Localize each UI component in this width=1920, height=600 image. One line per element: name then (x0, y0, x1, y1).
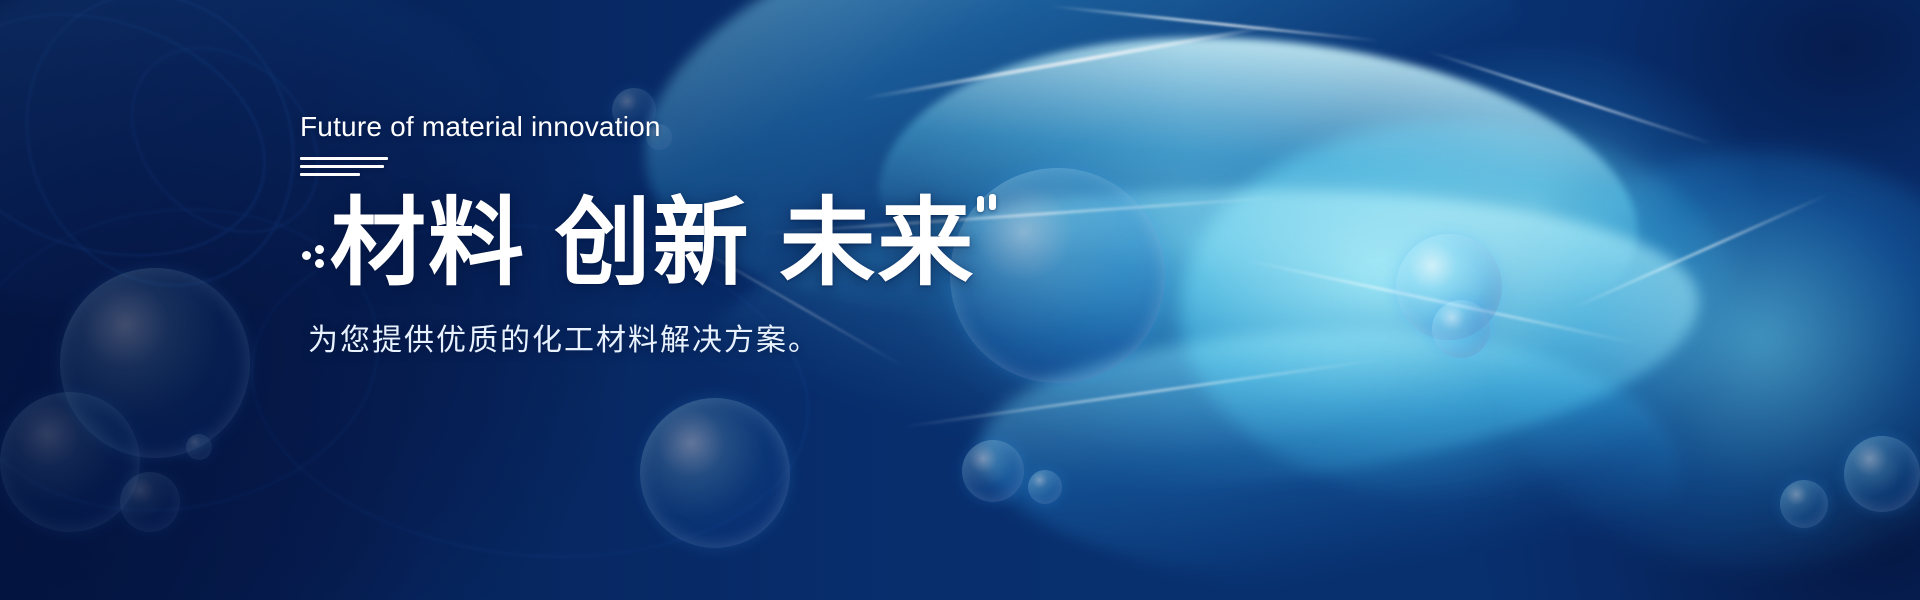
decorative-rule-line (300, 157, 388, 160)
hero-banner: Future of material innovation 材料 创新 未来 为… (0, 0, 1920, 600)
hero-headline-row: 材料 创新 未来 (300, 194, 1060, 294)
hero-copy-block: Future of material innovation 材料 创新 未来 为… (300, 112, 1060, 362)
decorative-rule-line (300, 173, 360, 176)
hero-eyebrow-text: Future of material innovation (300, 112, 1060, 143)
decorative-rules (300, 157, 1060, 176)
hero-headline-text: 材料 创新 未来 (330, 194, 975, 294)
quote-close-icon (975, 194, 1005, 234)
hero-subtitle-text: 为您提供优质的化工材料解决方案。 (308, 320, 1060, 362)
decorative-rule-line (300, 165, 384, 168)
quote-open-icon (300, 198, 330, 294)
